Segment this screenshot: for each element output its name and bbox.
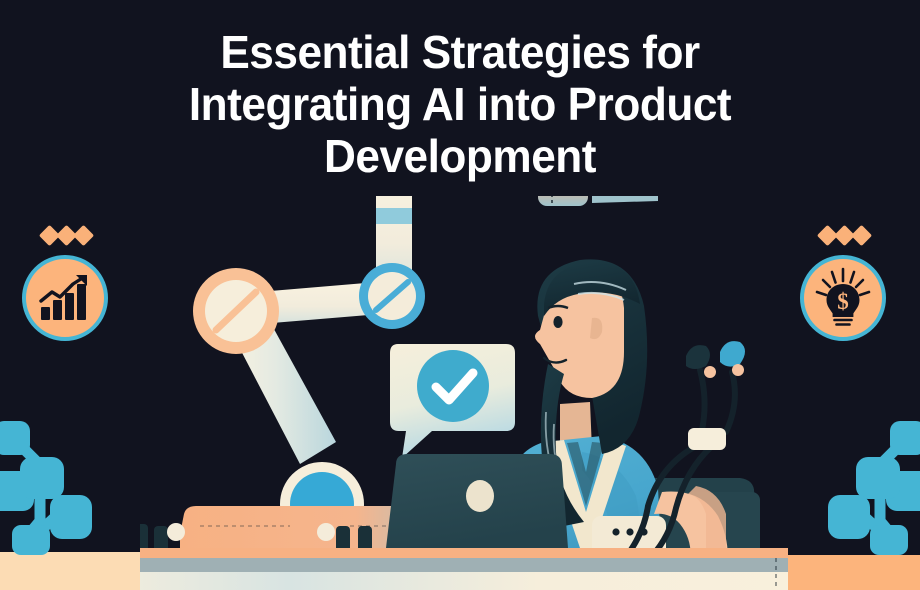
desk-band (140, 558, 788, 574)
desk (140, 548, 788, 590)
eye (553, 316, 562, 328)
network-nodes-icon (0, 413, 98, 563)
cable-sleeve (688, 428, 726, 450)
lightbulb-dollar-icon: $ (804, 259, 882, 337)
growth-chart-badge (22, 255, 108, 341)
left-diamond-accents (42, 228, 108, 243)
check-circle-icon (417, 350, 489, 422)
laptop (376, 454, 578, 562)
right-network-nodes-decoration (822, 413, 920, 568)
svg-text:$: $ (837, 289, 849, 314)
robot-joint-blue (359, 263, 425, 329)
page-title-line-3: Development (76, 130, 844, 182)
left-decoration-badge-group (22, 228, 108, 341)
growth-bar-chart-icon (26, 259, 104, 337)
robot-joint-peach-left (193, 268, 279, 354)
page-title: Essential Strategies for Integrating AI … (0, 26, 920, 182)
page-title-line-2: Integrating AI into Product (76, 78, 844, 130)
graphic-canvas: Essential Strategies for Integrating AI … (0, 0, 920, 590)
robot-gripper (538, 196, 658, 208)
page-title-line-1: Essential Strategies for (76, 26, 844, 78)
speech-bubble-approved (390, 344, 515, 458)
desk-front (140, 572, 788, 590)
left-network-nodes-decoration (0, 413, 98, 568)
illustration-human-and-robot-arm-at-desk (140, 196, 788, 590)
network-nodes-icon (822, 413, 920, 563)
laptop-logo (466, 480, 494, 512)
lightbulb-idea-badge: $ (800, 255, 886, 341)
right-decoration-badge-group: $ (800, 228, 886, 341)
right-diamond-accents (820, 228, 886, 243)
diamond-accent (73, 225, 94, 246)
diamond-accent (851, 225, 872, 246)
